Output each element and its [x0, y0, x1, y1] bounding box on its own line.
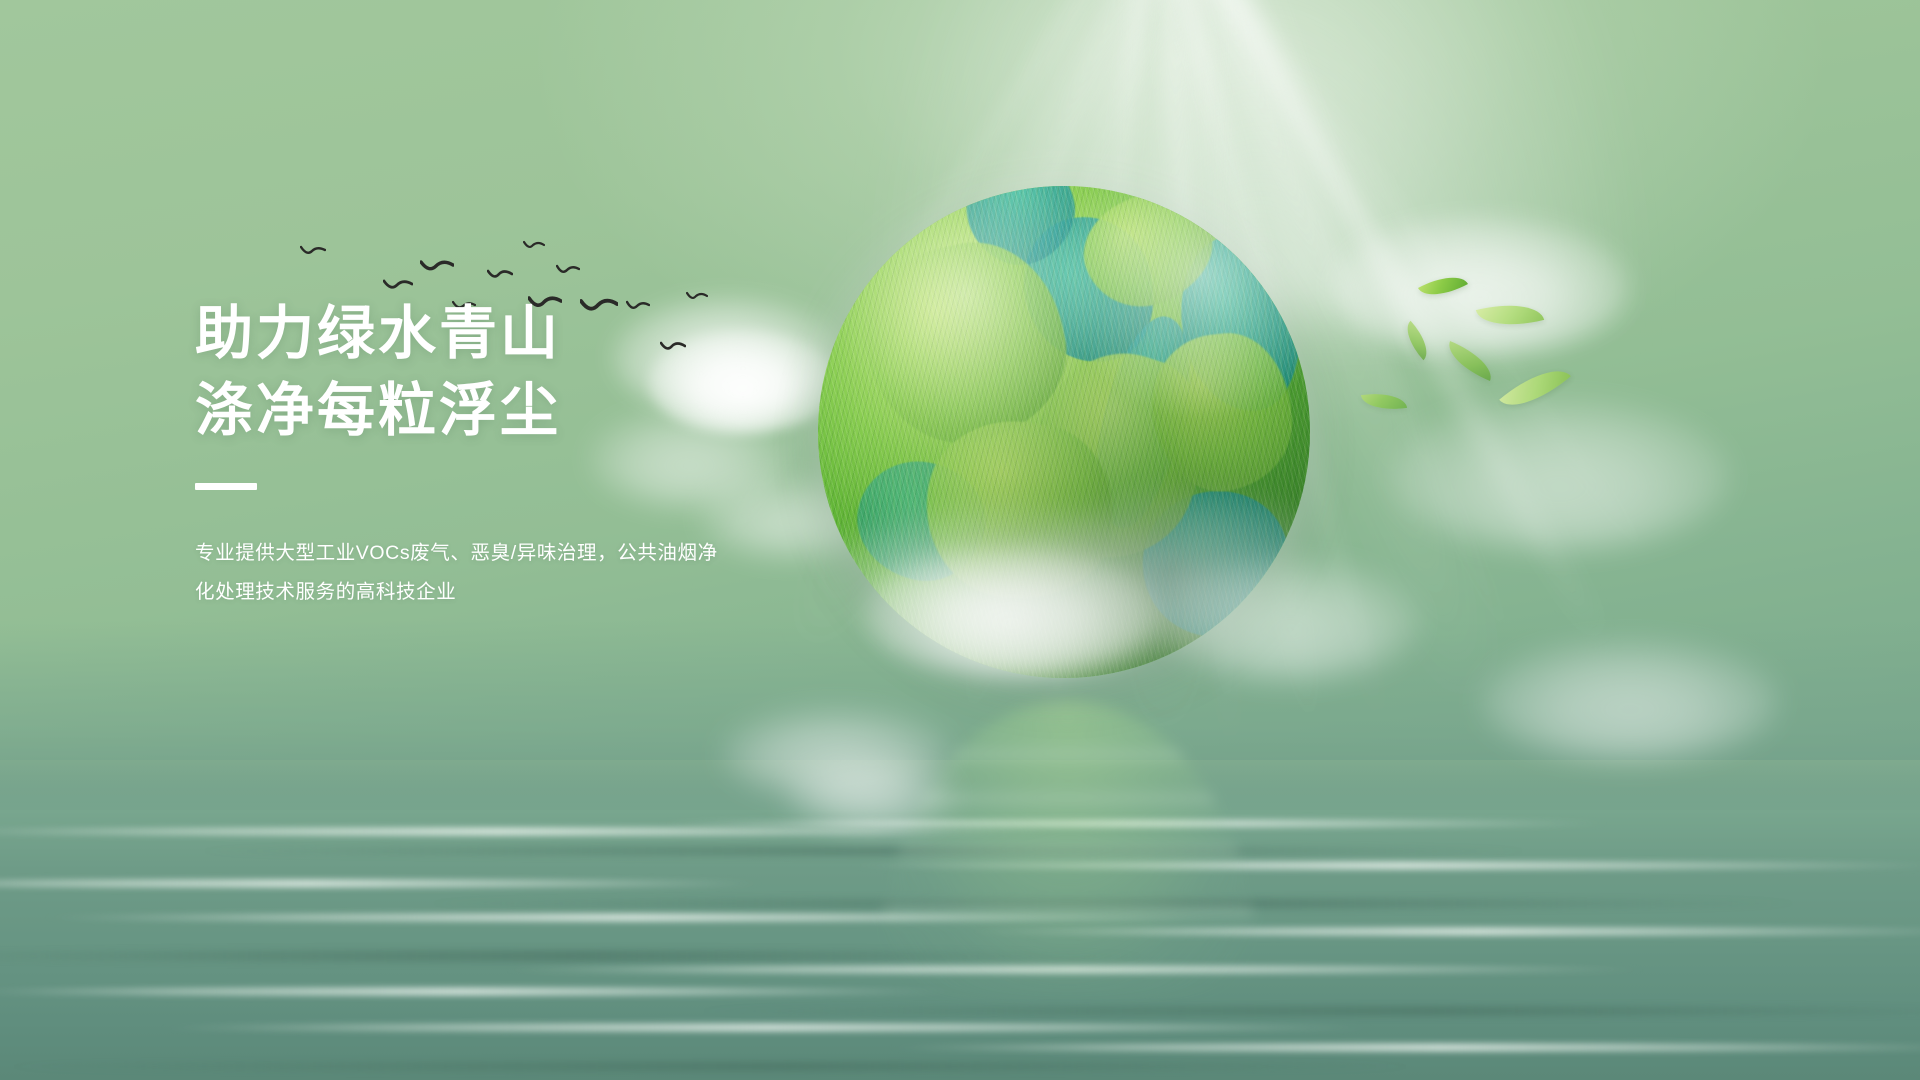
title-divider [195, 483, 257, 490]
headline-line-2: 涤净每粒浮尘 [195, 373, 895, 450]
headline-line-1: 助力绿水青山 [195, 296, 895, 373]
description-line-1: 专业提供大型工业VOCs废气、恶臭/异味治理，公共油烟净 [195, 534, 735, 573]
eco-banner: 助力绿水青山 涤净每粒浮尘 专业提供大型工业VOCs废气、恶臭/异味治理，公共油… [0, 0, 1920, 1080]
banner-copy: 助力绿水青山 涤净每粒浮尘 专业提供大型工业VOCs废气、恶臭/异味治理，公共油… [195, 296, 895, 613]
page-title: 助力绿水青山 涤净每粒浮尘 [195, 296, 895, 449]
description-line-2: 化处理技术服务的高科技企业 [195, 573, 735, 612]
banner-description: 专业提供大型工业VOCs废气、恶臭/异味治理，公共油烟净 化处理技术服务的高科技… [195, 534, 735, 613]
